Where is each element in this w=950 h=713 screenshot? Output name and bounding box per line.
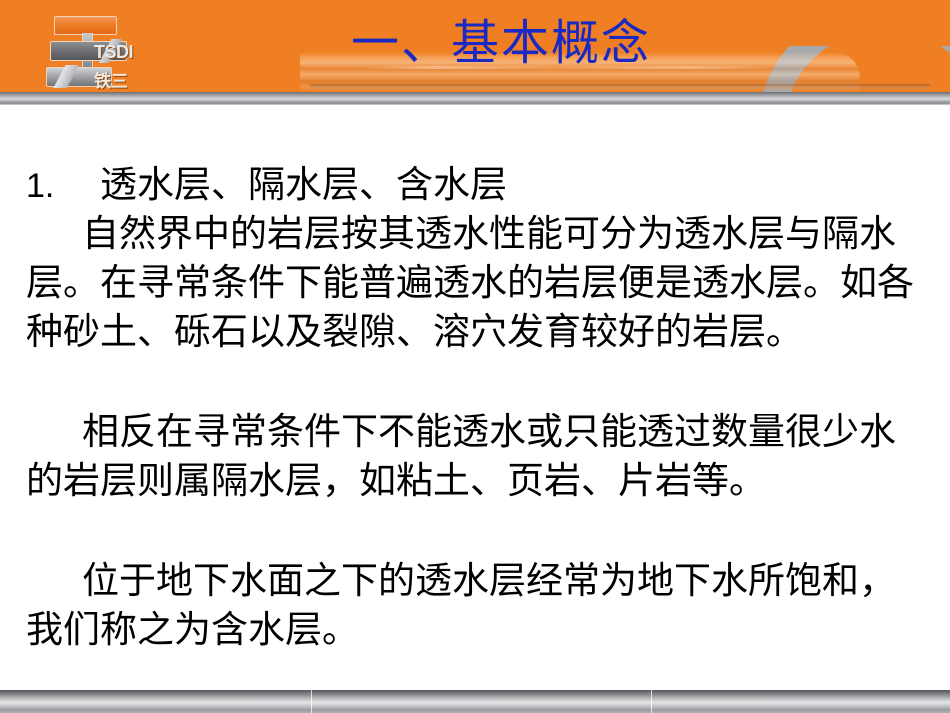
body-paragraph-3: 位于地下水面之下的透水层经常为地下水所饱和，我们称之为含水层。: [26, 556, 926, 654]
footer-divider-left: [311, 690, 312, 713]
slide-footer-bar: [0, 690, 950, 713]
presentation-slide: TSDI 铁三院 一、基本概念 1.透水层、隔水层、含水层 自然界中的岩层按其透…: [0, 0, 950, 713]
header-divider-bar: [0, 92, 950, 105]
slide-body: 1.透水层、隔水层、含水层 自然界中的岩层按其透水性能可分为透水层与隔水层。在寻…: [0, 105, 950, 670]
bullet-number: 1.: [26, 162, 100, 211]
body-paragraph-2: 相反在寻常条件下不能透水或只能透过数量很少水的岩层则属隔水层，如粘土、页岩、片岩…: [26, 407, 926, 505]
bullet-label: 透水层、隔水层、含水层: [100, 163, 507, 206]
slide-header-banner: TSDI 铁三院 一、基本概念: [0, 0, 950, 92]
decorative-train-shadow: [310, 84, 930, 91]
numbered-bullet-item: 1.透水层、隔水层、含水层: [26, 160, 926, 211]
footer-divider-right: [651, 690, 652, 713]
slide-title: 一、基本概念: [0, 14, 950, 72]
body-paragraph-1: 自然界中的岩层按其透水性能可分为透水层与隔水层。在寻常条件下能普遍透水的岩层便是…: [26, 209, 926, 356]
